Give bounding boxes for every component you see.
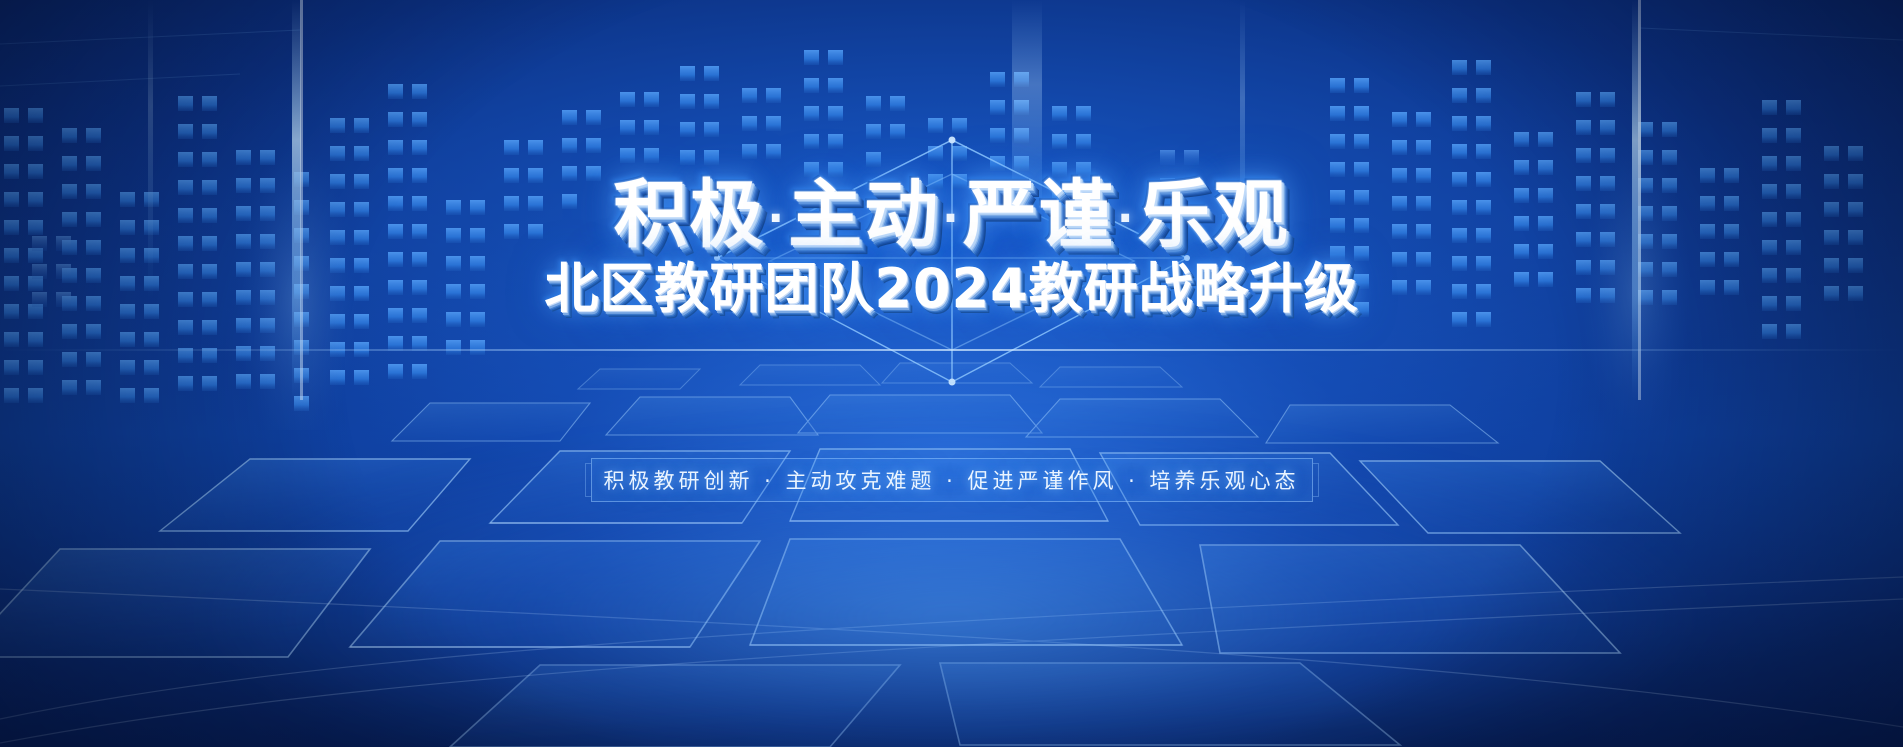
title-separator-3: · [1115,193,1138,244]
title-word-3: 严谨 [963,172,1115,258]
tagline-text: 积极教研创新 · 主动攻克难题 · 促进严谨作风 · 培养乐观心态 [603,465,1299,495]
tagline-bar: 积极教研创新 · 主动攻克难题 · 促进严谨作风 · 培养乐观心态 [591,458,1313,502]
title-separator-2: · [940,193,963,244]
title-separator-1: · [765,193,788,244]
title-word-1: 积极 [613,172,765,258]
banner-title-primary: 积极·主动·严谨·乐观 [613,178,1289,252]
title-word-2: 主动 [788,172,940,258]
event-banner: 积极·主动·严谨·乐观 北区教研团队2024教研战略升级 积极教研创新 · 主动… [0,0,1903,747]
banner-title-secondary: 北区教研团队2024教研战略升级 [544,262,1358,316]
title-word-4: 乐观 [1138,172,1290,258]
headline-group: 积极·主动·严谨·乐观 北区教研团队2024教研战略升级 [0,0,1903,747]
